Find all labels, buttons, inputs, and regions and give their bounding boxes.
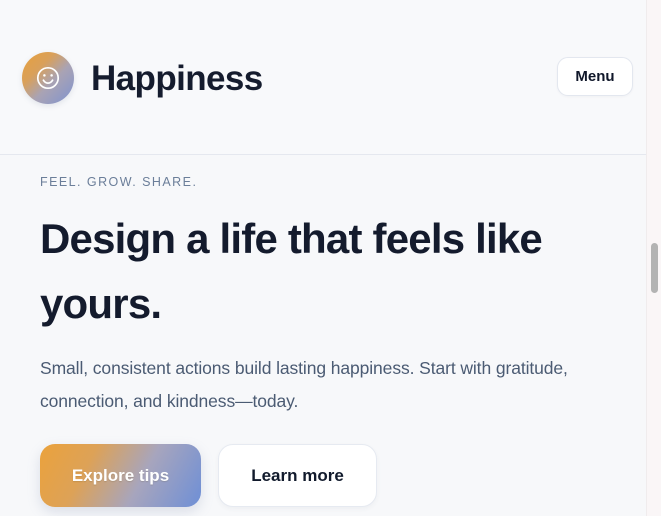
hero-subtitle: Small, consistent actions build lasting … <box>40 352 606 417</box>
menu-button[interactable]: Menu <box>557 57 633 96</box>
learn-more-button[interactable]: Learn more <box>218 444 377 507</box>
brand-logo-link[interactable]: Happiness <box>22 52 263 104</box>
explore-tips-button[interactable]: Explore tips <box>40 444 201 507</box>
brand-name: Happiness <box>91 61 263 96</box>
page-title: Design a life that feels like yours. <box>40 206 580 336</box>
smiley-face-icon <box>22 52 74 104</box>
page-viewport: Happiness Menu FEEL. GROW. SHARE. Design… <box>0 0 646 516</box>
vertical-scrollbar-track[interactable] <box>646 0 661 516</box>
site-header: Happiness Menu <box>0 0 646 155</box>
hero-actions: Explore tips Learn more <box>40 444 606 507</box>
hero-eyebrow: FEEL. GROW. SHARE. <box>40 175 606 190</box>
vertical-scrollbar-thumb[interactable] <box>651 243 658 293</box>
hero-section: FEEL. GROW. SHARE. Design a life that fe… <box>0 155 646 507</box>
